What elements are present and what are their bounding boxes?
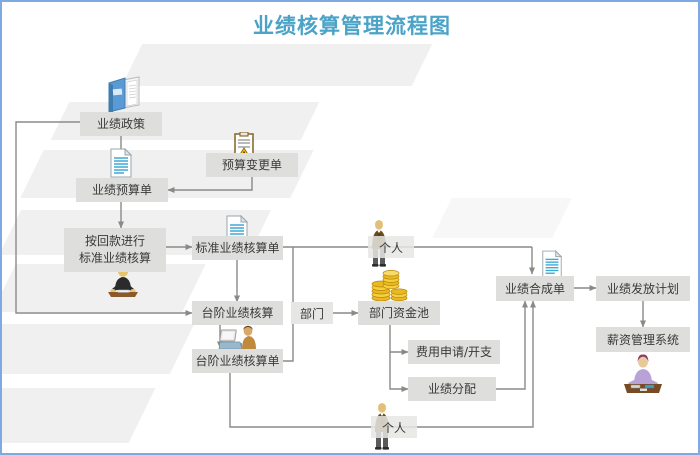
node-budget-change-form[interactable]: 预算变更单 [206, 153, 298, 177]
node-standard-accounting-by-collection[interactable]: 按回款进行 标准业绩核算 [64, 228, 166, 272]
background-band [432, 198, 572, 238]
page-title: 业绩核算管理流程图 [2, 10, 700, 40]
node-standard-accounting-form[interactable]: 标准业绩核算单 [192, 236, 283, 260]
node-expense-application[interactable]: 费用申请/开支 [408, 340, 500, 364]
label-department: 部门 [291, 302, 333, 324]
label-individual-bottom: 个人 [371, 416, 417, 438]
background-band [0, 388, 155, 443]
node-performance-policy[interactable]: 业绩政策 [80, 112, 162, 136]
node-performance-synthesis-form[interactable]: 业绩合成单 [496, 276, 574, 301]
node-step-accounting[interactable]: 台阶业绩核算 [192, 301, 283, 325]
person-workstation-icon [621, 354, 665, 394]
node-department-fund-pool[interactable]: 部门资金池 [358, 301, 440, 325]
document-lines-icon [540, 250, 564, 278]
node-step-accounting-form[interactable]: 台阶业绩核算单 [192, 349, 283, 373]
flowchart-canvas: 业绩核算管理流程图 [0, 0, 700, 455]
node-payroll-management-system[interactable]: 薪资管理系统 [596, 327, 690, 352]
label-individual-top: 个人 [368, 236, 414, 258]
document-lines-icon [108, 148, 134, 178]
node-performance-payout-plan[interactable]: 业绩发放计划 [596, 276, 690, 301]
gold-coins-icon [369, 268, 413, 302]
background-band [122, 44, 432, 86]
blue-book-icon [101, 72, 145, 114]
node-performance-allocation[interactable]: 业绩分配 [408, 377, 496, 401]
background-band [0, 324, 194, 374]
node-performance-budget-form[interactable]: 业绩预算单 [76, 178, 168, 202]
